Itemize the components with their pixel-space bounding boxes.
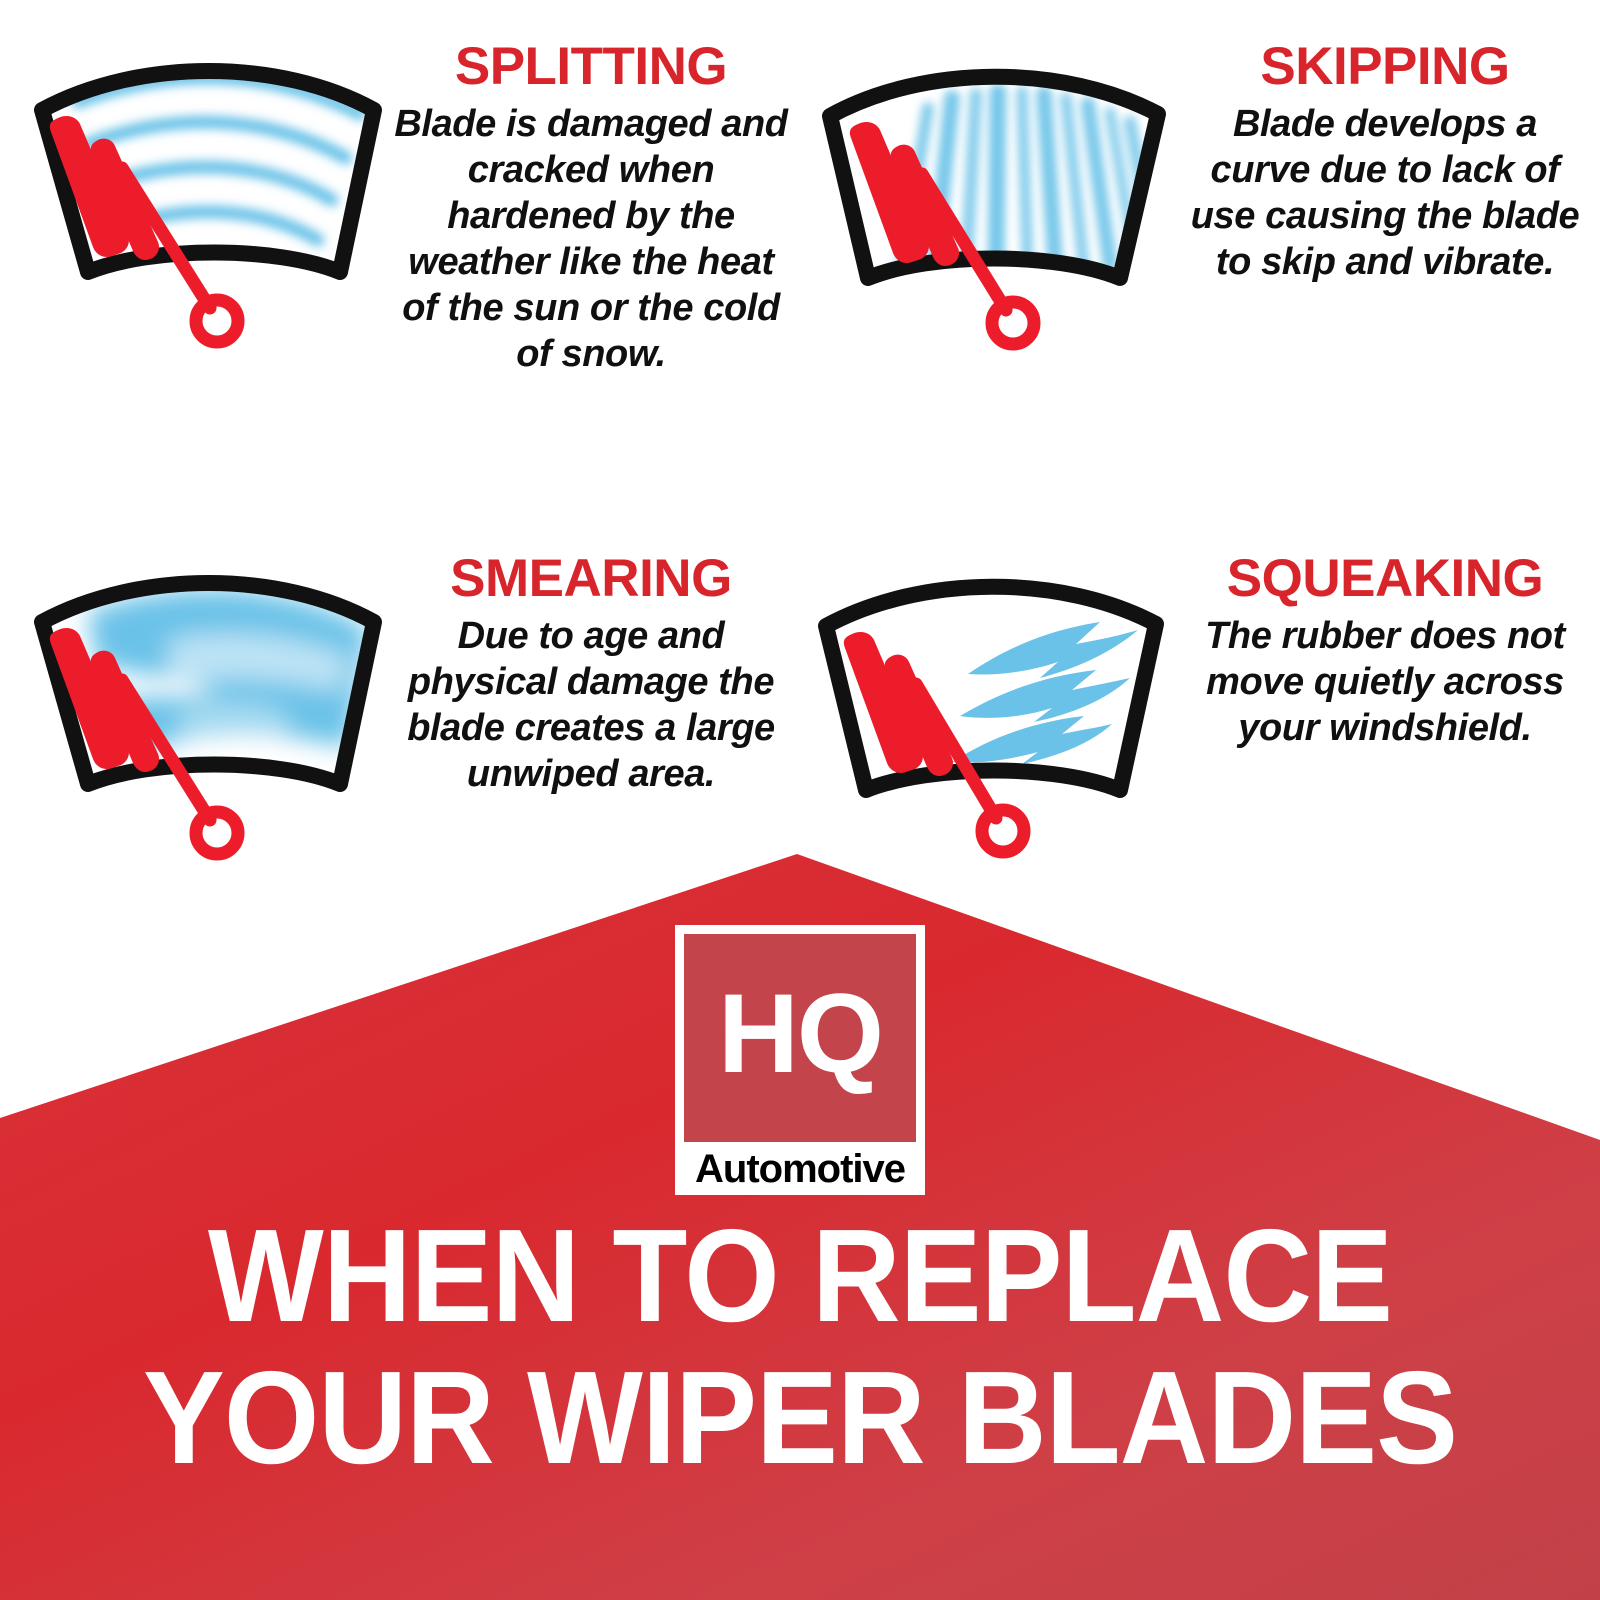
panel-splitting: SPLITTING Blade is damaged and cracked w… bbox=[18, 40, 788, 377]
panel-skipping-copy: SKIPPING Blade develops a curve due to l… bbox=[1180, 40, 1590, 285]
panel-squeaking-title: SQUEAKING bbox=[1180, 552, 1590, 605]
panel-smearing-title: SMEARING bbox=[394, 552, 788, 605]
panel-squeaking-copy: SQUEAKING The rubber does not move quiet… bbox=[1180, 552, 1590, 751]
logo-wordmark: Automotive bbox=[684, 1142, 916, 1195]
infographic-canvas: SPLITTING Blade is damaged and cracked w… bbox=[0, 0, 1600, 1600]
headline-line-1: WHEN TO REPLACE bbox=[56, 1212, 1544, 1340]
panel-splitting-title: SPLITTING bbox=[394, 40, 788, 93]
panel-squeaking-description: The rubber does not move quietly across … bbox=[1180, 613, 1590, 751]
panel-skipping-description: Blade develops a curve due to lack of us… bbox=[1180, 101, 1590, 285]
logo-wordmark-text: Automotive bbox=[695, 1149, 905, 1189]
headline-line-2: YOUR WIPER BLADES bbox=[56, 1354, 1544, 1482]
windshield-wiper-arc-streaks-icon bbox=[18, 40, 398, 360]
logo-mark: HQ bbox=[684, 934, 916, 1142]
panel-splitting-copy: SPLITTING Blade is damaged and cracked w… bbox=[394, 40, 788, 377]
windshield-wiper-radial-streaks-icon bbox=[800, 40, 1180, 360]
hq-automotive-logo: HQ Automotive bbox=[675, 925, 925, 1195]
headline: WHEN TO REPLACE YOUR WIPER BLADES bbox=[0, 1212, 1600, 1482]
panel-splitting-description: Blade is damaged and cracked when harden… bbox=[394, 101, 788, 377]
windshield-wiper-smear-icon bbox=[18, 552, 398, 872]
windshield-wiper-lightning-icon bbox=[800, 552, 1180, 872]
panel-squeaking: SQUEAKING The rubber does not move quiet… bbox=[800, 552, 1590, 872]
panel-smearing: SMEARING Due to age and physical damage … bbox=[18, 552, 788, 872]
panel-skipping-title: SKIPPING bbox=[1180, 40, 1590, 93]
panel-skipping: SKIPPING Blade develops a curve due to l… bbox=[800, 40, 1590, 360]
panel-smearing-description: Due to age and physical damage the blade… bbox=[394, 613, 788, 797]
logo-mark-text: HQ bbox=[718, 978, 882, 1090]
panel-smearing-copy: SMEARING Due to age and physical damage … bbox=[394, 552, 788, 797]
